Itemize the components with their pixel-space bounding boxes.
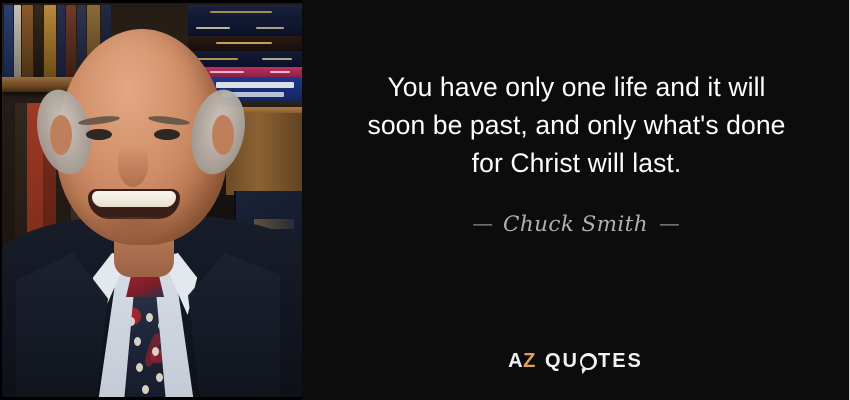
quote-text: You have only one life and it will soon … [320, 68, 833, 182]
person-figure [2, 3, 302, 397]
quote-card: ✦ [0, 0, 850, 400]
logo-word-tes: TES [598, 350, 643, 372]
quote-line-2: soon be past, and only what's done [320, 106, 833, 144]
tie-pattern-dot [134, 337, 141, 346]
author-name[interactable]: Chuck Smith [503, 212, 648, 237]
teeth [92, 191, 176, 207]
chin-shadow [94, 217, 174, 239]
eye-right [154, 129, 180, 140]
azquotes-logo[interactable]: AZQUTES [302, 350, 849, 373]
tie-pattern-dot [136, 363, 143, 372]
dash-left: — [467, 214, 497, 236]
ear-right [212, 115, 234, 155]
speech-bubble-o-icon [580, 353, 597, 370]
logo-az: AZ [508, 350, 536, 373]
dash-right: — [654, 214, 684, 236]
quote-content-panel: You have only one life and it will soon … [302, 0, 849, 400]
tie-pattern-dot [146, 313, 153, 322]
quote-attribution: — Chuck Smith — [302, 212, 849, 237]
tie-pattern-dot [142, 385, 149, 394]
ear-left [50, 115, 72, 155]
nose [118, 143, 148, 187]
photo-image: ✦ [2, 3, 302, 397]
tie-pattern-dot [156, 373, 163, 382]
logo-letter-a: A [508, 350, 523, 372]
author-photo[interactable]: ✦ [0, 0, 302, 400]
quote-line-1: You have only one life and it will [320, 68, 833, 106]
speech-bubble-tail-icon [582, 368, 589, 375]
logo-word-qu: QU [545, 350, 579, 372]
logo-word-quotes: QUTES [545, 350, 643, 373]
eye-left [86, 129, 112, 140]
quote-line-3: for Christ will last. [320, 144, 833, 182]
mouth [88, 189, 180, 219]
tie-pattern-dot [152, 347, 159, 356]
logo-letter-z: Z [523, 350, 536, 372]
